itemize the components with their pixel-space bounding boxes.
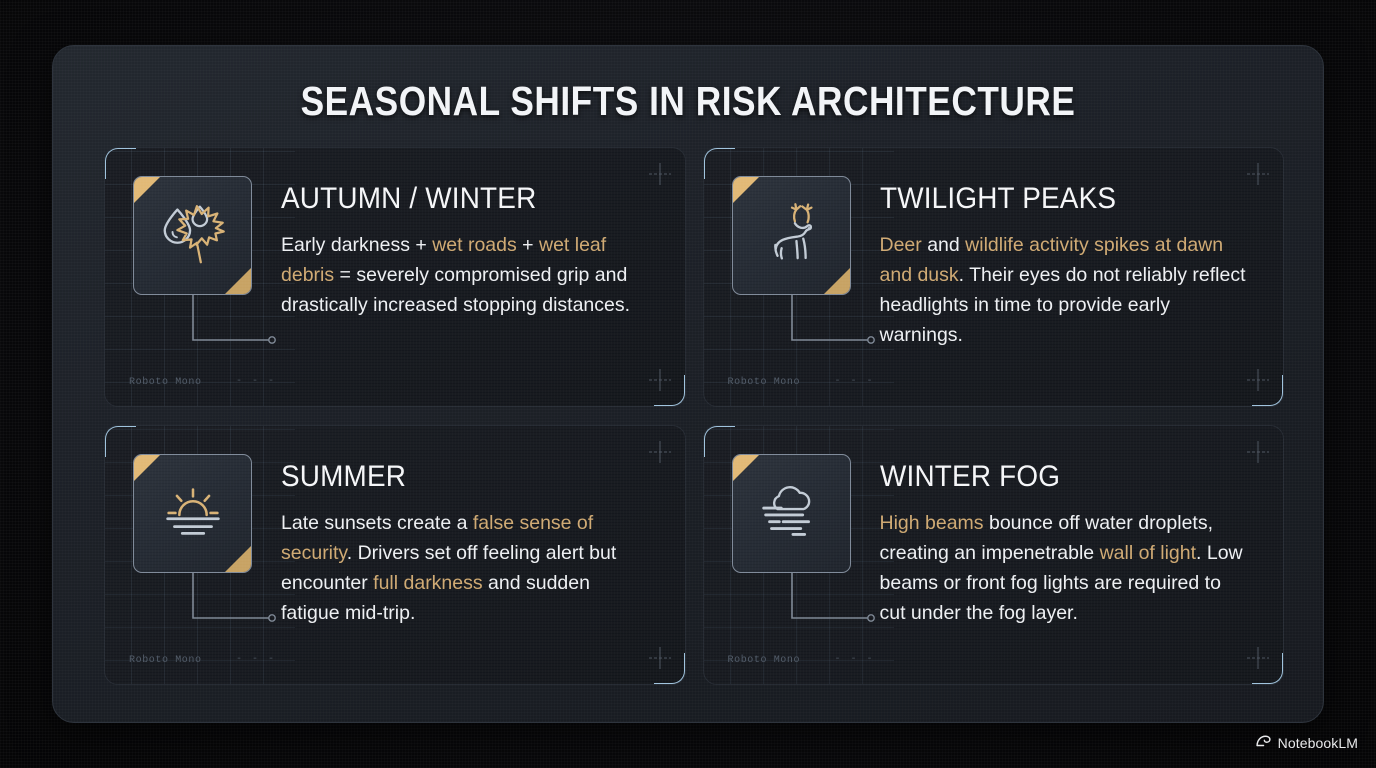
corner-bracket-bottom-right [1252,375,1284,407]
corner-bracket-bottom-right [654,375,686,407]
card[interactable]: Roboto Mono - - - SUMMER Late sunsets cr… [104,425,686,685]
mono-font-label: Roboto Mono [129,655,202,666]
crosshair-marker-bottom-right [649,369,671,391]
desc-segment: full darkness [373,572,482,594]
card-heading: TWILIGHT PEAKS [880,182,1225,216]
corner-bracket-bottom-right [654,653,686,685]
mono-font-label: Roboto Mono [728,655,801,666]
card-body: WINTER FOG High beams bounce off water d… [880,460,1252,628]
mono-font-label: Roboto Mono [129,377,202,388]
mono-dashes: - - - [236,376,276,387]
notebooklm-logo-icon [1255,732,1272,754]
corner-bracket-top-left [703,147,735,179]
slide-frame: SEASONAL SHIFTS IN RISK ARCHITECTURE Rob… [52,45,1324,723]
card-grid: Roboto Mono - - - AUTUMN / WINTER Early … [104,147,1284,685]
corner-bracket-top-left [104,425,136,457]
rain-leaf-icon [154,194,232,277]
desc-segment: = severely compromised grip and drastica… [281,264,630,316]
corner-bracket-bottom-right [1252,653,1284,685]
desc-segment: Late sunsets create a [281,512,473,534]
sunset-icon-tile[interactable] [133,454,252,573]
mono-dashes: - - - [835,654,875,665]
mono-font-label: Roboto Mono [728,377,801,388]
corner-bracket-top-left [104,147,136,179]
desc-segment: and [922,234,965,256]
crosshair-marker-bottom-right [1247,647,1269,669]
card-body: SUMMER Late sunsets create a false sense… [281,460,653,628]
page-root: SEASONAL SHIFTS IN RISK ARCHITECTURE Rob… [0,0,1376,768]
mono-dashes: - - - [236,654,276,665]
card[interactable]: Roboto Mono - - - TWILIGHT PEAKS Deer an… [703,147,1285,407]
desc-segment: wet roads [432,234,517,256]
mono-dashes: - - - [835,376,875,387]
card-heading: WINTER FOG [880,460,1225,494]
card[interactable]: Roboto Mono - - - WINTER FOG High beams … [703,425,1285,685]
crosshair-marker-bottom-right [1247,369,1269,391]
card-body: TWILIGHT PEAKS Deer and wildlife activit… [880,182,1252,350]
card-description: Early darkness + wet roads + wet leaf de… [281,230,653,320]
desc-segment: Early darkness + [281,234,432,256]
card-heading: SUMMER [281,460,626,494]
crosshair-marker-bottom-right [649,647,671,669]
corner-bracket-top-left [703,425,735,457]
card[interactable]: Roboto Mono - - - AUTUMN / WINTER Early … [104,147,686,407]
card-body: AUTUMN / WINTER Early darkness + wet roa… [281,182,653,320]
card-description: Late sunsets create a false sense of sec… [281,508,653,628]
page-title: SEASONAL SHIFTS IN RISK ARCHITECTURE [142,78,1234,125]
sunset-icon [154,472,232,555]
watermark-label: NotebookLM [1278,735,1358,751]
desc-segment: High beams [880,512,984,534]
card-description: Deer and wildlife activity spikes at daw… [880,230,1252,350]
fog-cloud-icon [752,472,830,555]
card-heading: AUTUMN / WINTER [281,182,626,216]
desc-segment: + [517,234,539,256]
desc-segment: wall of light [1100,542,1196,564]
rain-leaf-icon-tile[interactable] [133,176,252,295]
card-description: High beams bounce off water droplets, cr… [880,508,1252,628]
fog-cloud-icon-tile[interactable] [732,454,851,573]
notebooklm-watermark: NotebookLM [1255,732,1358,754]
deer-icon [752,194,830,277]
desc-segment: Deer [880,234,922,256]
deer-icon-tile[interactable] [732,176,851,295]
